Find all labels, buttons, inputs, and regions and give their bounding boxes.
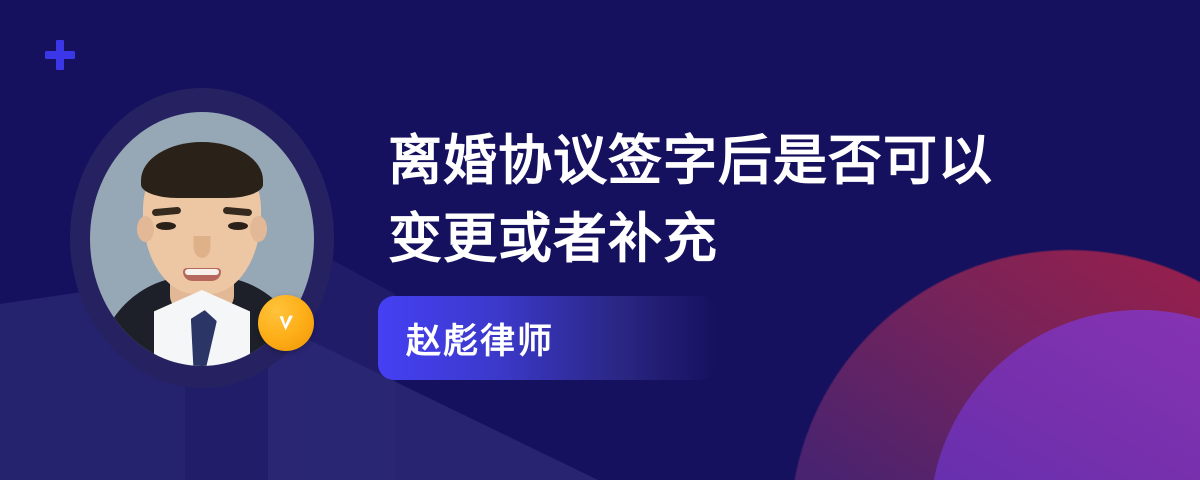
verified-badge-icon: [258, 295, 314, 351]
violet-orb-shape: [930, 310, 1200, 480]
plus-icon: [45, 40, 75, 70]
portrait-teeth: [185, 269, 219, 275]
page-title: 离婚协议签字后是否可以 变更或者补充: [388, 122, 1078, 278]
portrait-hair: [141, 142, 263, 198]
lawyer-name-label: 赵彪律师: [406, 313, 554, 364]
avatar: [70, 88, 340, 388]
portrait-eye-right: [228, 222, 248, 230]
portrait-ear-right: [250, 216, 267, 242]
portrait-eye-left: [156, 222, 176, 230]
headline-line-2: 变更或者补充: [388, 200, 1078, 278]
lawyer-name-chip[interactable]: 赵彪律师: [378, 296, 716, 380]
portrait-ear-left: [137, 216, 154, 242]
headline-line-1: 离婚协议签字后是否可以: [388, 122, 1078, 200]
portrait-nose: [194, 236, 211, 258]
promo-banner: 离婚协议签字后是否可以 变更或者补充 赵彪律师: [0, 0, 1200, 480]
portrait-mouth: [183, 268, 221, 281]
crimson-orb-shape: [790, 250, 1200, 480]
